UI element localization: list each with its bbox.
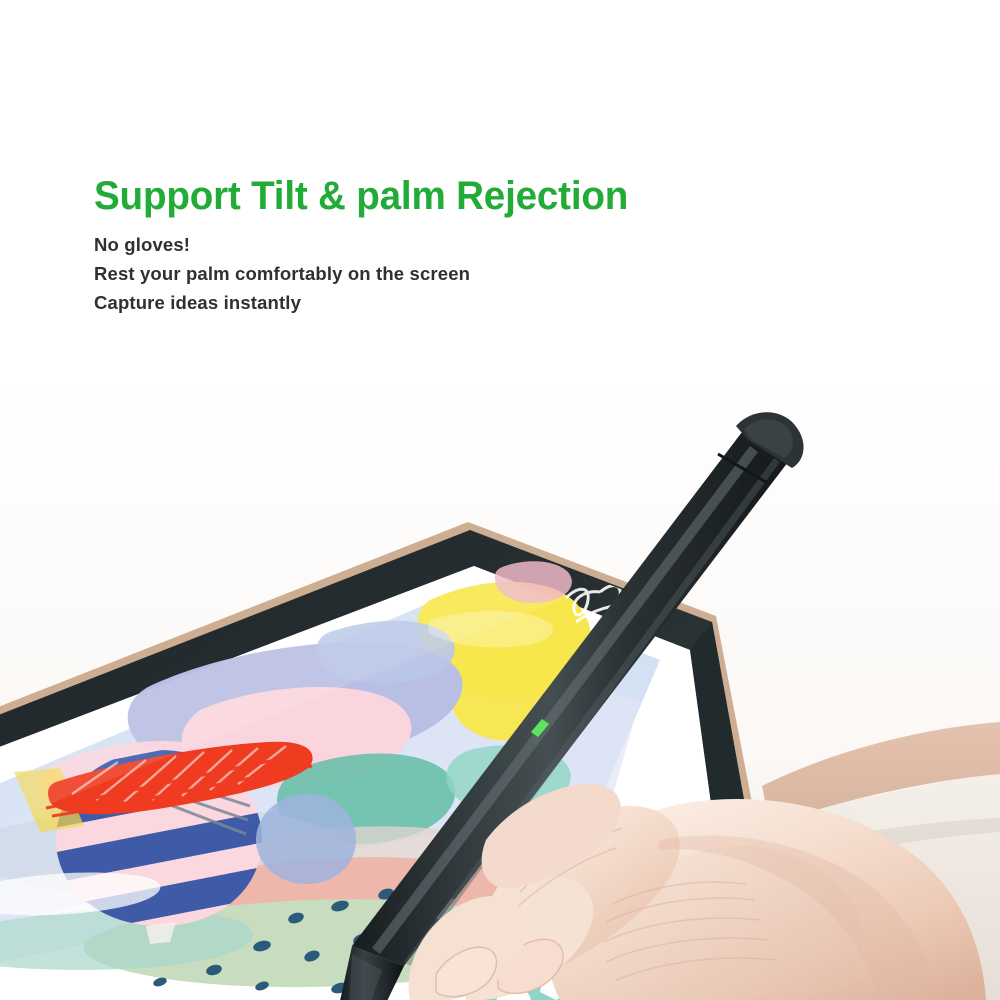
feature-line-1: No gloves!: [94, 230, 854, 259]
product-photo: [0, 370, 1000, 1000]
banner-canvas: Support Tilt & palm Rejection No gloves!…: [0, 0, 1000, 1000]
feature-line-2: Rest your palm comfortably on the screen: [94, 259, 854, 288]
copy-block: Support Tilt & palm Rejection No gloves!…: [94, 172, 854, 317]
page-title: Support Tilt & palm Rejection: [94, 172, 827, 220]
photo-illustration: [0, 370, 1000, 1000]
feature-line-3: Capture ideas instantly: [94, 288, 854, 317]
